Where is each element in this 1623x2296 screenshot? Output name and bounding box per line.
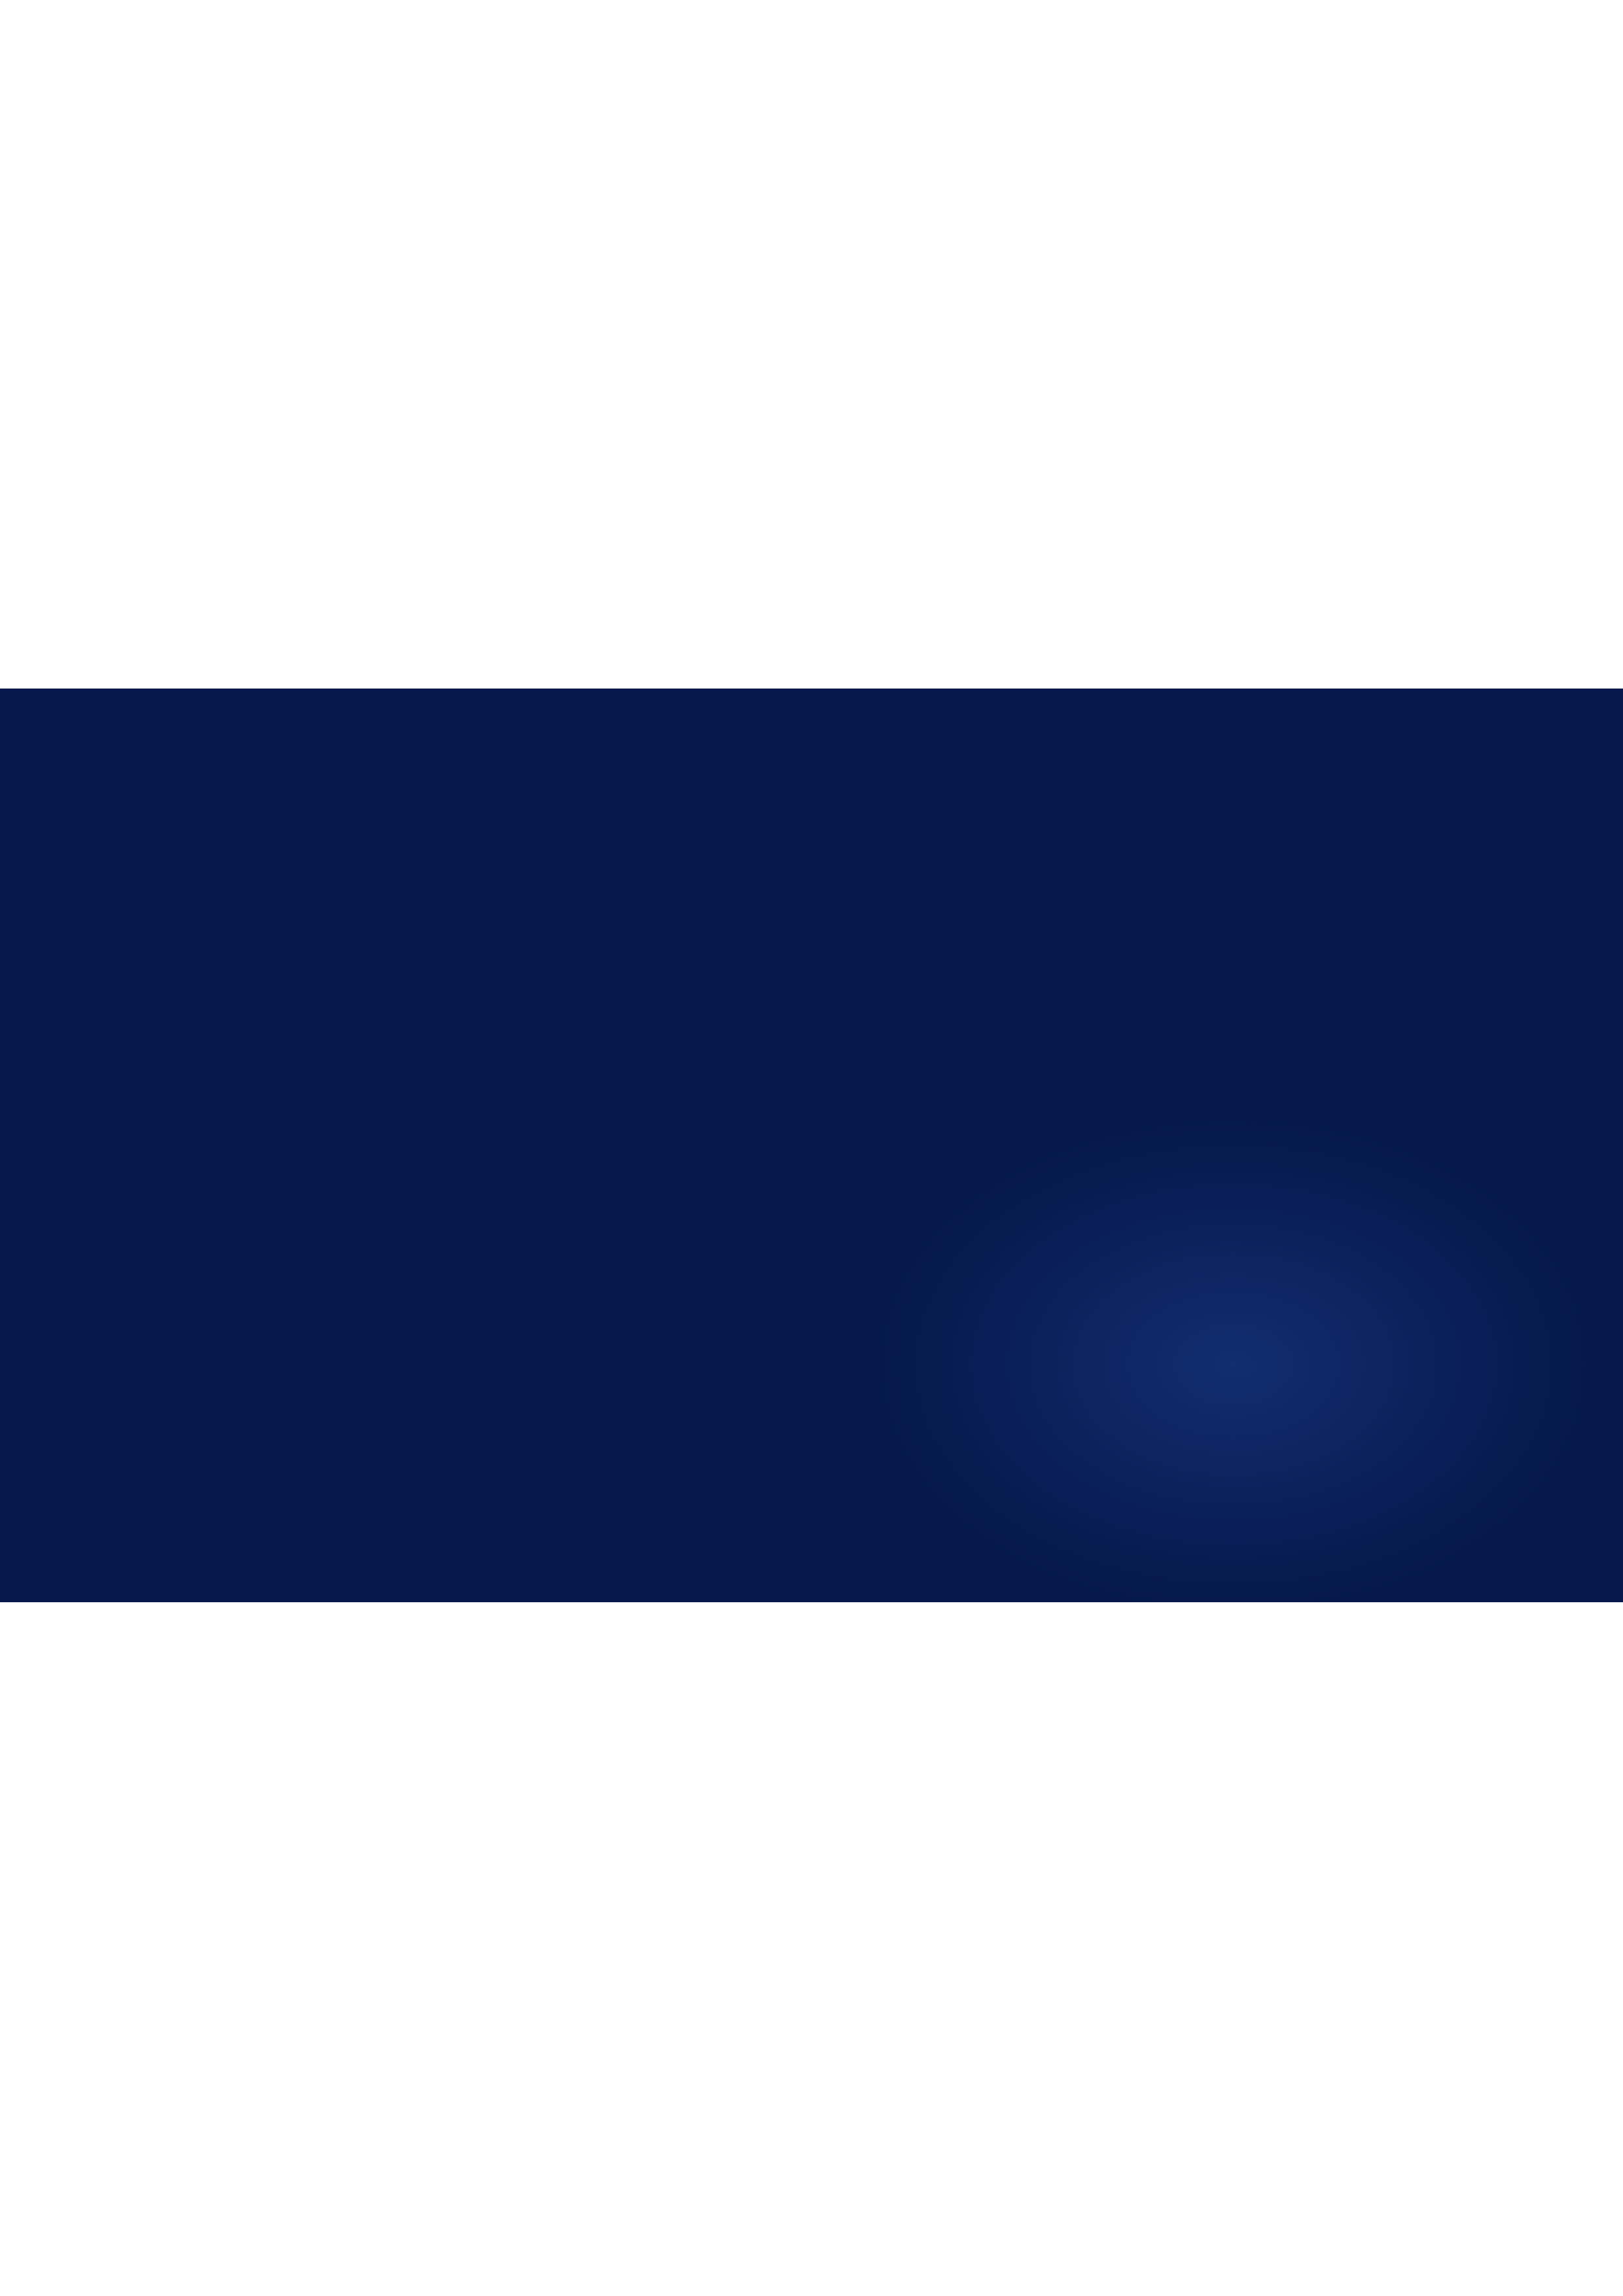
page-title: Climate Risk Report [123, 1600, 1256, 1602]
cover-slide: Climate Risk Report Scheme year 2024-25 … [0, 689, 1623, 1602]
